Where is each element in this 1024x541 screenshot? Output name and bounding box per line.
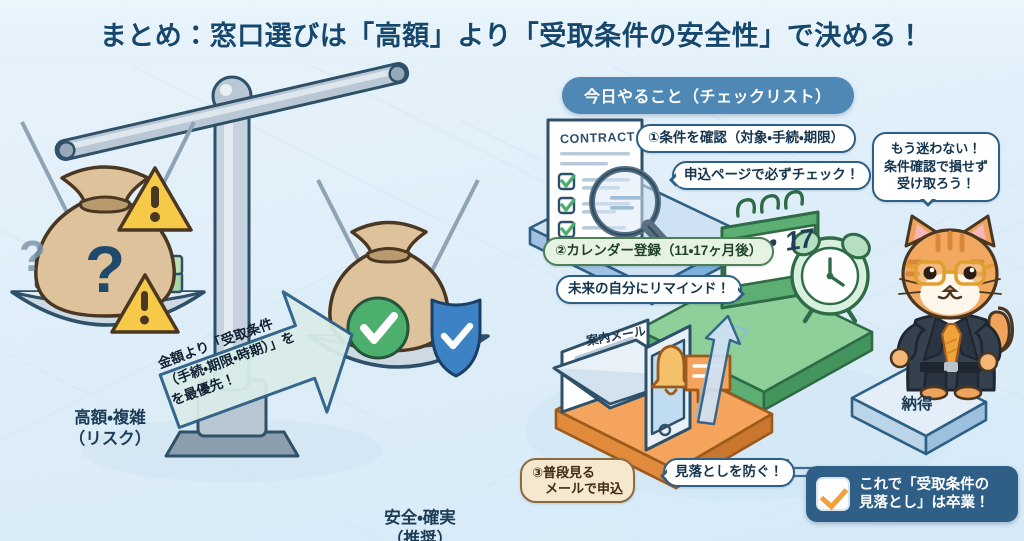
page-title: まとめ：窓口選びは「高額」より「受取条件の安全性」で決める！ bbox=[100, 14, 924, 53]
cat-platform-label: 納得 bbox=[862, 392, 972, 414]
bag-question-mark: ? bbox=[85, 232, 125, 306]
shield-icon bbox=[432, 300, 480, 376]
cat-speech-bubble: もう迷わない！ 条件確認で損せず 受け取ろう！ bbox=[872, 132, 1000, 202]
checklist-item-1[interactable]: ①条件を確認（対象・手続・期限） bbox=[636, 124, 856, 153]
title-bar: まとめ：窓口選びは「高額」より「受取条件の安全性」で決める！ bbox=[0, 0, 1024, 66]
contract-title-text: CONTRACT bbox=[560, 130, 635, 147]
checklist-item-2-note: 未来の自分にリマインド！ bbox=[556, 275, 742, 304]
checklist-item-3-note: 見落としを防ぐ！ bbox=[663, 458, 795, 487]
scale-label-left: 高額・複雑 （リスク） bbox=[20, 408, 200, 451]
infographic-canvas: まとめ：窓口選びは「高額」より「受取条件の安全性」で決める！ bbox=[0, 0, 1024, 541]
cat-mascot bbox=[876, 212, 1024, 402]
conclusion-banner: これで「受取条件の 見落とし」は卒業！ bbox=[806, 466, 1018, 522]
checklist-item-1-note: 申込ページで必ずチェック！ bbox=[672, 161, 871, 190]
checklist-item-3[interactable]: ③普段見る メールで申込 bbox=[520, 458, 635, 503]
checklist-header-badge: 今日やること（チェックリスト） bbox=[562, 77, 854, 114]
checklist-item-2[interactable]: ②カレンダー登録（11・17ヶ月後） bbox=[543, 237, 774, 266]
scale-label-right: 安全・確実 （推奨） bbox=[330, 508, 510, 541]
balance-scale-illustration: ? bbox=[0, 60, 520, 541]
background-question-mark: ? bbox=[19, 232, 46, 282]
conclusion-banner-text: これで「受取条件の 見落とし」は卒業！ bbox=[859, 476, 990, 513]
checkbox-icon bbox=[816, 477, 850, 511]
